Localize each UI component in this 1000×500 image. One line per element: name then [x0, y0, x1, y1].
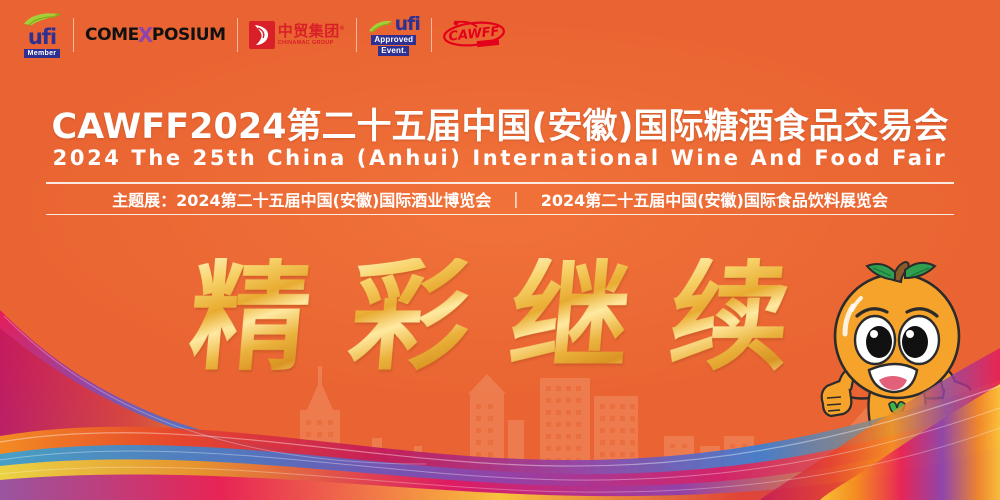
theme-separator: | [513, 189, 518, 208]
theme-exhibitions-bar: 主题展：2024第二十五届中国(安徽)国际酒业博览会 | 2024第二十五届中国… [46, 182, 954, 215]
theme-rule-bottom [46, 214, 954, 216]
chinamac-cn-name: 中贸集团® [278, 24, 345, 39]
decorative-ribbon-waves [0, 310, 1000, 500]
ufi-approved-wordmark: ufi [395, 15, 420, 34]
ufi-approved-wing-icon [368, 20, 394, 34]
ufi-event-label: Event. [378, 46, 409, 56]
logo-divider-3 [356, 18, 357, 52]
page-title-en: 2024 The 25th China (Anhui) Internationa… [10, 146, 990, 170]
cawff-emblem-icon: CAWFF [443, 20, 505, 50]
ufi-approved-event-logo[interactable]: ufi Approved Event. [368, 8, 420, 62]
ufi-wordmark: ufi [28, 27, 56, 48]
exhibition-banner: ufi Member COME X POSIUM [0, 0, 1000, 500]
chinamac-emblem-icon [249, 21, 275, 49]
comexposium-part2: POSIUM [152, 25, 226, 45]
page-title-cn: CAWFF2024第二十五届中国(安徽)国际糖酒食品交易会 [20, 98, 980, 149]
theme-left-label: 主题展：2024第二十五届中国(安徽)国际酒业博览会 [112, 187, 491, 211]
sponsor-logo-strip: ufi Member COME X POSIUM [22, 8, 505, 62]
cawff-logo[interactable]: CAWFF [443, 8, 505, 62]
comexposium-logo[interactable]: COME X POSIUM [85, 8, 226, 62]
ufi-approved-label: Approved [371, 35, 416, 45]
comexposium-x-icon: X [138, 23, 153, 47]
logo-divider-1 [73, 18, 74, 52]
comexposium-part1: COME [85, 25, 139, 45]
ufi-member-logo[interactable]: ufi Member [22, 8, 62, 62]
logo-divider-4 [431, 18, 432, 52]
chinamac-en-name: CHINAMAC GROUP [278, 41, 345, 47]
chinamac-group-logo[interactable]: 中贸集团® CHINAMAC GROUP [249, 8, 345, 62]
ufi-member-label: Member [24, 49, 61, 58]
registered-mark-icon: ® [340, 26, 345, 32]
theme-right-label: 2024第二十五届中国(安徽)国际食品饮料展览会 [541, 187, 888, 211]
logo-divider-2 [237, 18, 238, 52]
